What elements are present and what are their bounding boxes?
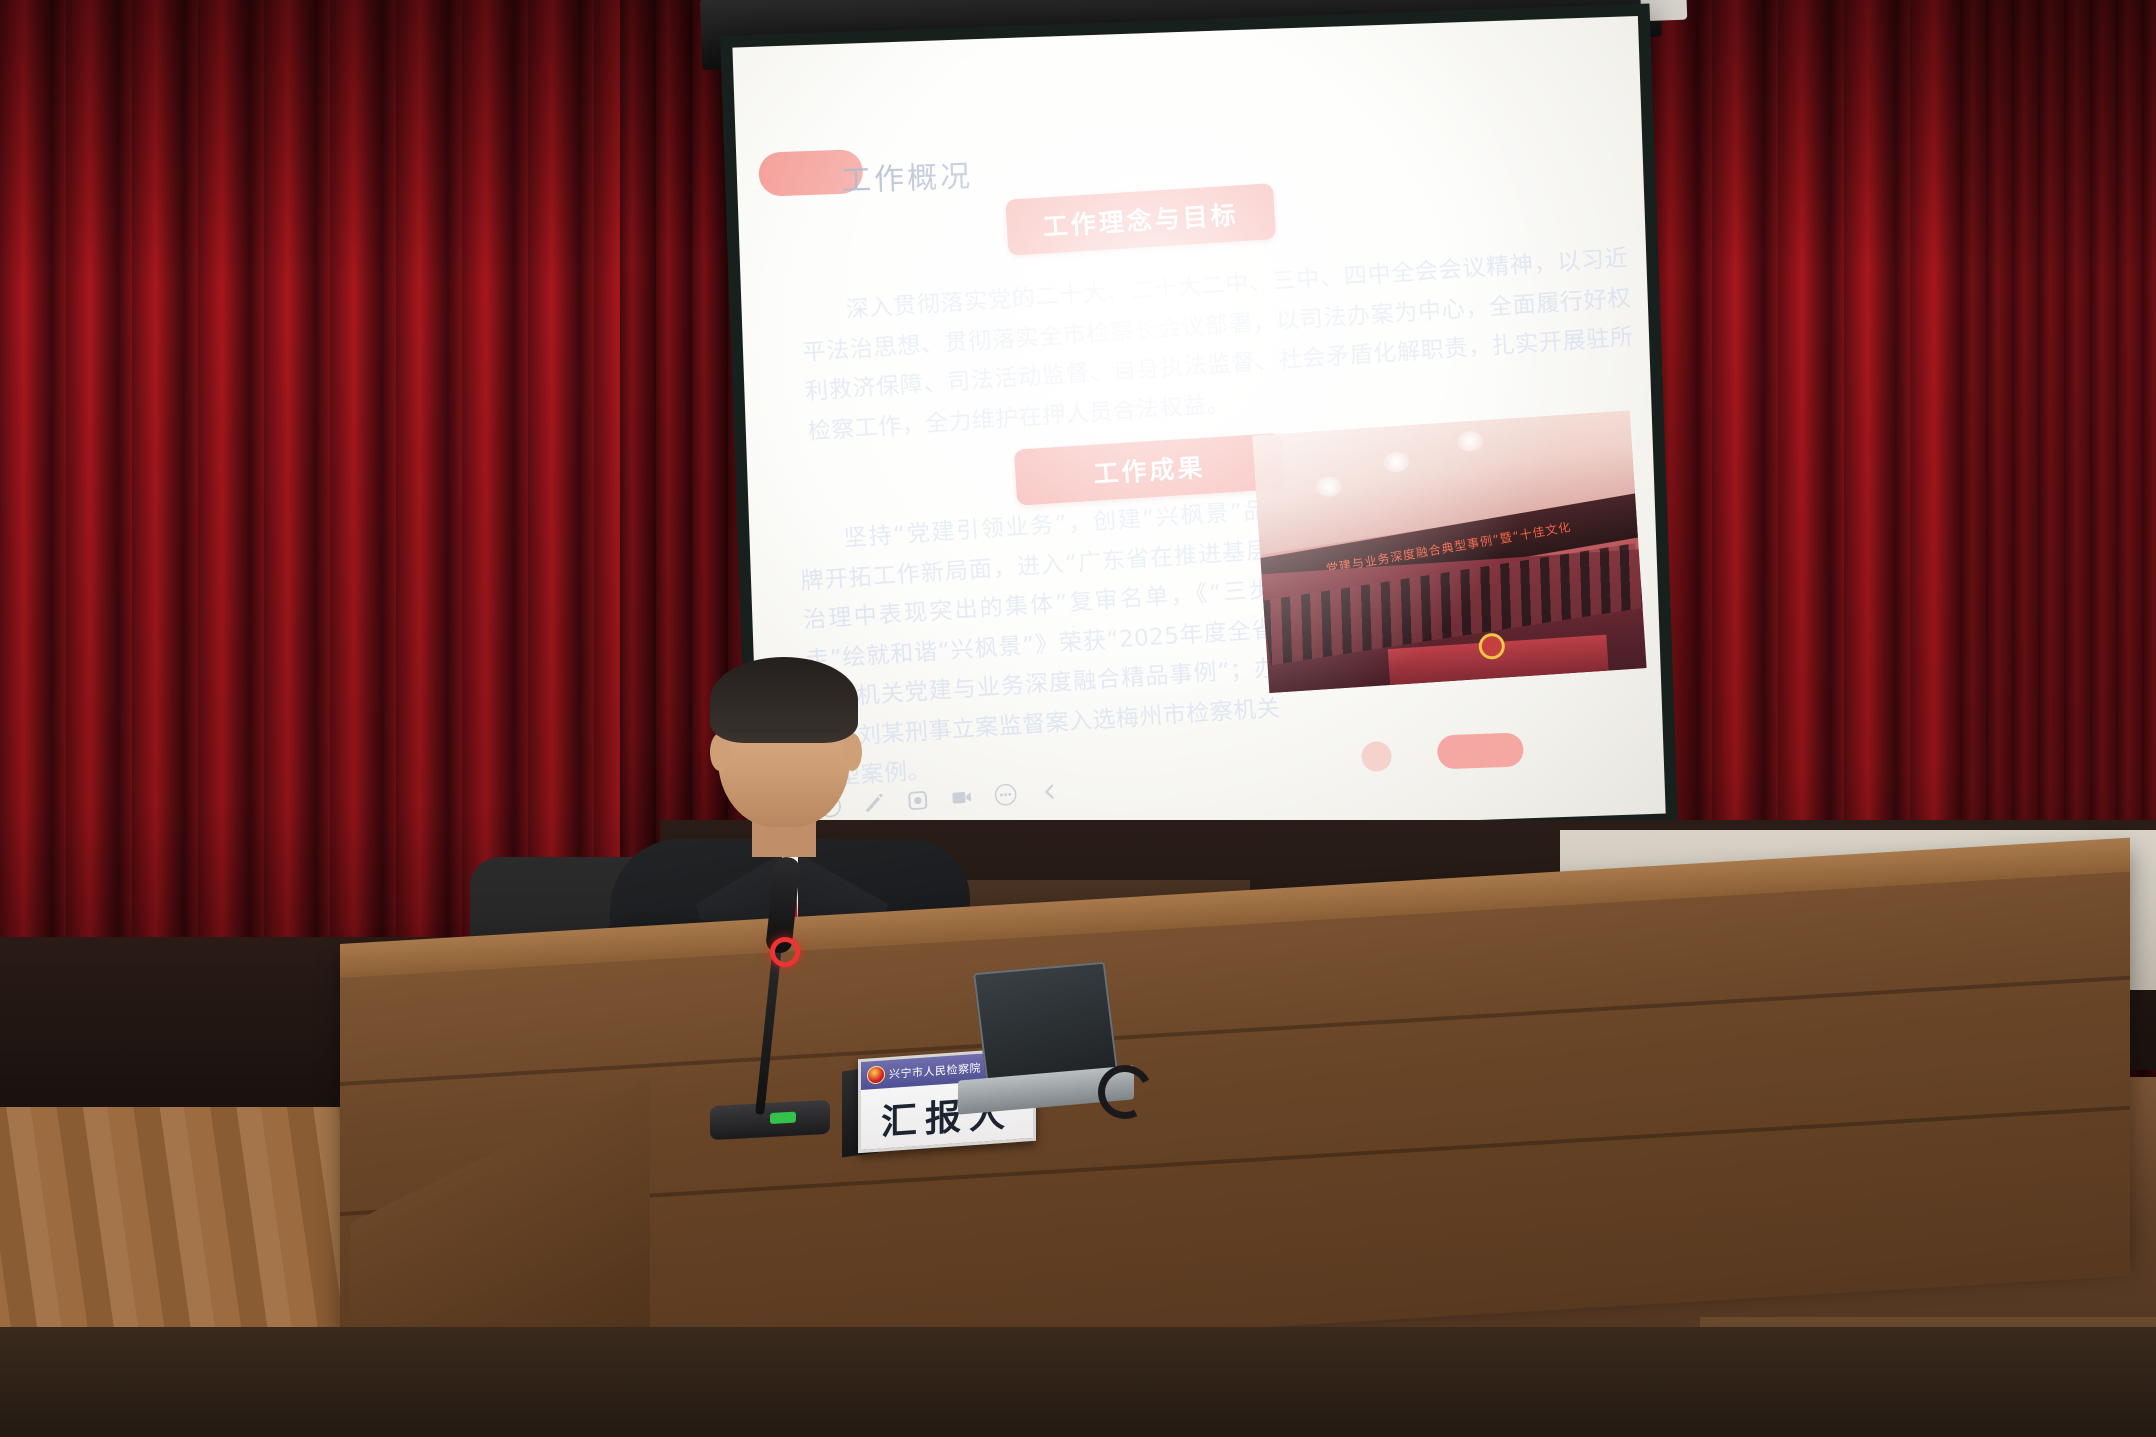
section-badge-goals: 工作理念与目标 xyxy=(1005,183,1276,256)
conference-room-scene: 工作概况 工作理念与目标 深入贯彻落实党的二十大、二十大二中、三中、四中全会会议… xyxy=(0,0,2156,1437)
desk-seam xyxy=(340,976,2130,1086)
chevron-left-icon[interactable] xyxy=(1038,780,1061,803)
decor-pill xyxy=(1437,732,1524,769)
slide-embedded-photo: 党建与业务深度融合典型事例”暨“十佳文化 xyxy=(1252,411,1646,693)
photo-audience-area xyxy=(1262,550,1647,693)
glasses xyxy=(728,729,840,749)
slide-header-title: 工作概况 xyxy=(840,151,973,200)
decor-dot xyxy=(1361,741,1392,772)
nameplate-organization: 兴宁市人民检察院 xyxy=(889,1060,981,1082)
stage-riser-front xyxy=(0,1327,2156,1437)
microphone-base xyxy=(710,1100,830,1140)
microphone-indicator-ring xyxy=(770,937,800,967)
procuratorate-emblem-icon xyxy=(867,1065,885,1084)
microphone-status-led xyxy=(770,1112,796,1124)
ear xyxy=(842,733,862,771)
